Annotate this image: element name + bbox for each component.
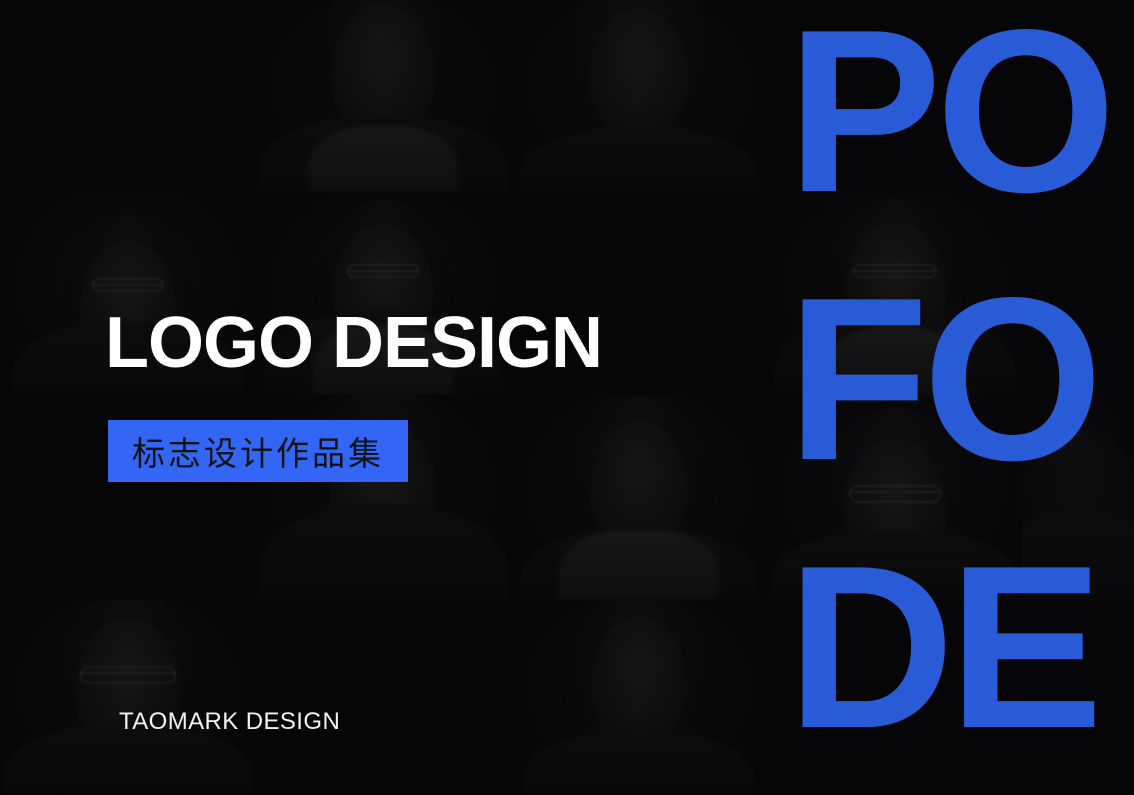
subtitle-badge: 标志设计作品集 [108,420,408,482]
page-title: LOGO DESIGN [105,307,602,379]
brand-mark: TAOMARK DESIGN [119,708,340,736]
photo-dim-overlay [0,0,1134,795]
logo-design-poster: PO FO DE LOGO DESIGN 标志设计作品集 TAOMARK DES… [0,0,1134,795]
